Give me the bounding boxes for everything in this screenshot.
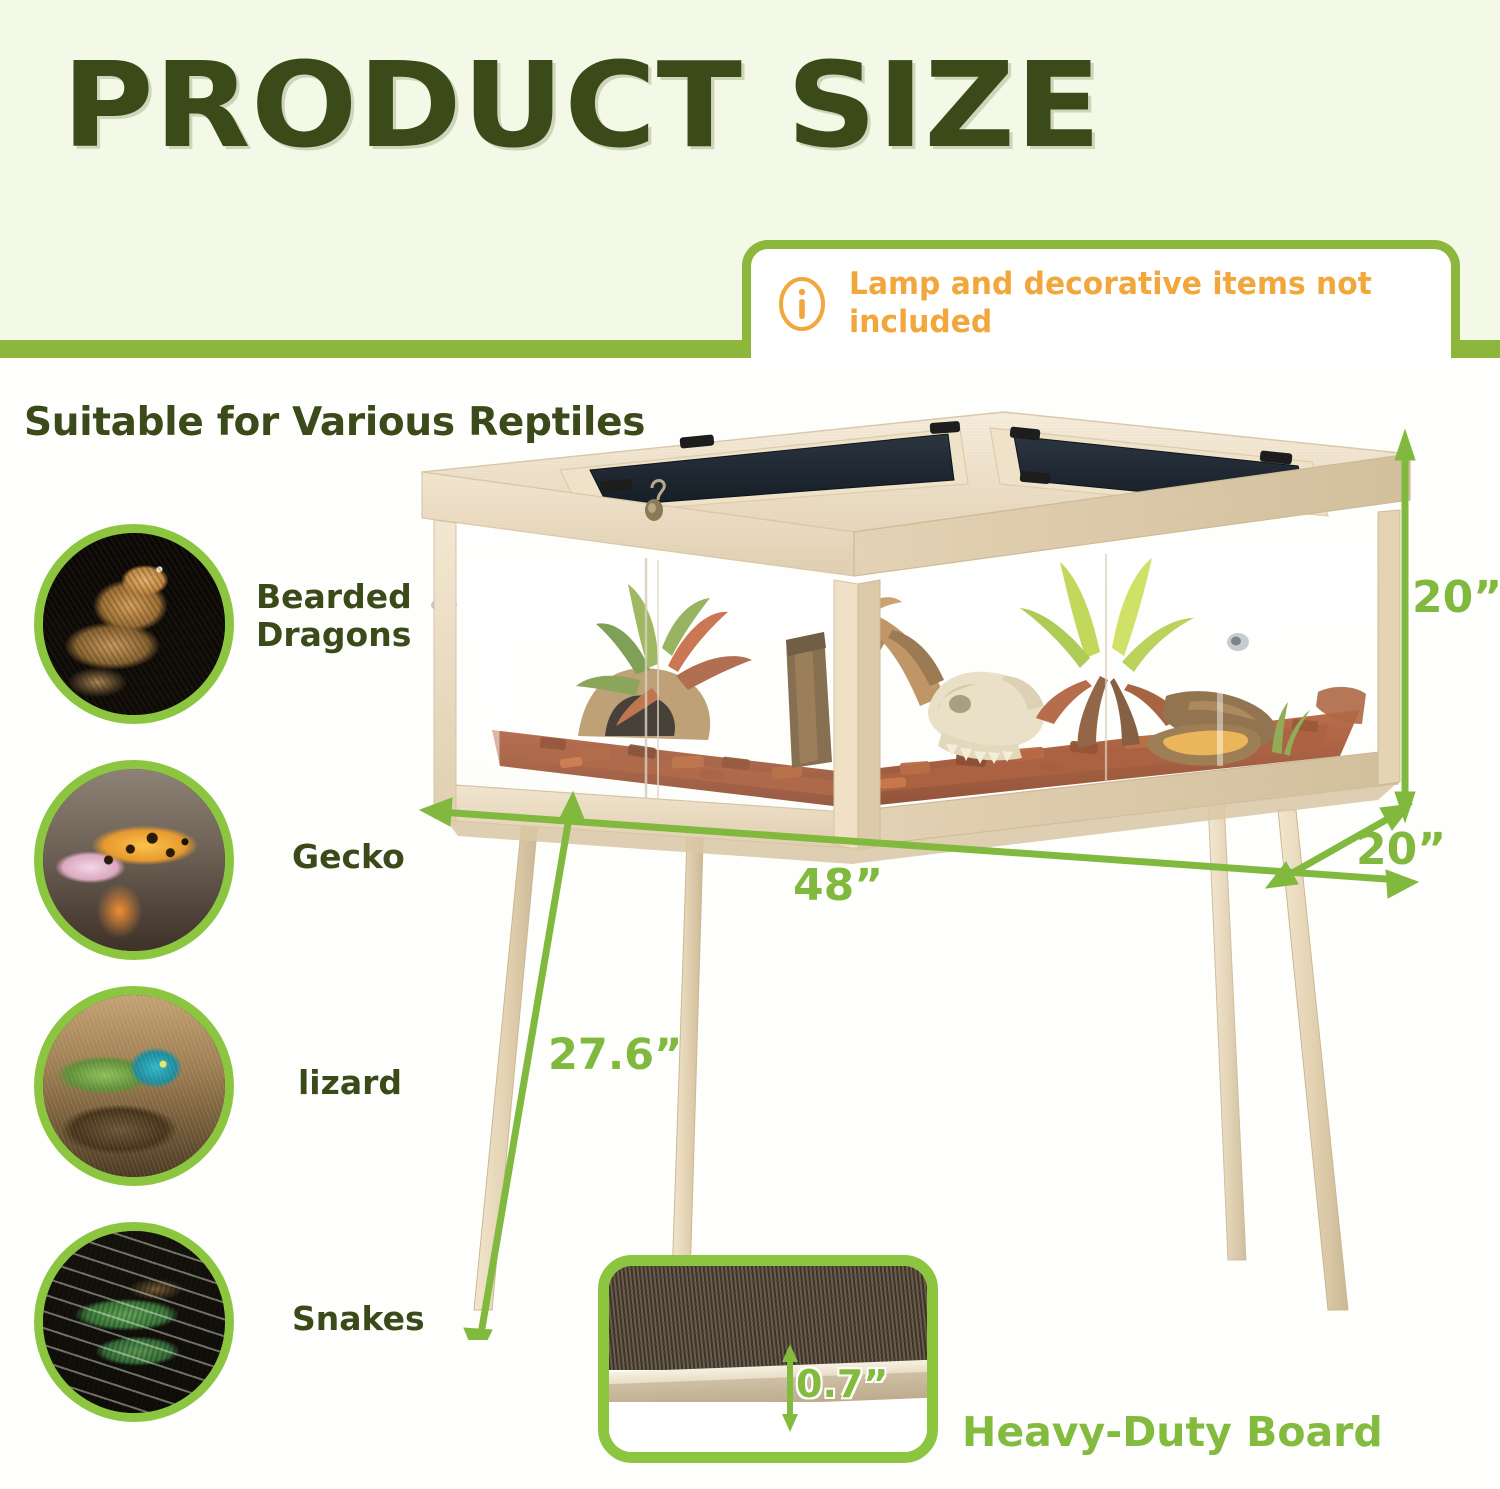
- heavy-duty-board-callout: [598, 1255, 938, 1463]
- info-callout: Lamp and decorative items not included: [742, 240, 1460, 358]
- gecko-photo: [34, 760, 234, 960]
- board-callout-background: [609, 1402, 927, 1452]
- pet-item-gecko: Gecko: [34, 760, 434, 960]
- dimension-label-width: 48”: [793, 860, 883, 911]
- pet-item-snakes: Snakes: [34, 1222, 434, 1422]
- pet-item-bearded-dragons: Bearded Dragons: [34, 524, 434, 724]
- product-size-infographic: PRODUCT SIZE Lamp and decorative items n…: [0, 0, 1500, 1489]
- pet-label-bearded-dragons: Bearded Dragons: [256, 578, 412, 654]
- pet-label-gecko: Gecko: [292, 838, 405, 876]
- door-knob-right: [1227, 633, 1249, 651]
- dimension-label-height: 20”: [1412, 572, 1500, 623]
- lizard-photo: [34, 986, 234, 1186]
- page-title: PRODUCT SIZE: [62, 44, 1101, 168]
- pet-label-lizard: lizard: [298, 1064, 402, 1102]
- info-circle-icon: [777, 275, 827, 333]
- heavy-duty-board-title: Heavy-Duty Board: [962, 1408, 1383, 1456]
- dimension-label-depth: 20”: [1356, 824, 1446, 875]
- pet-item-lizard: lizard: [34, 986, 434, 1186]
- info-callout-text: Lamp and decorative items not included: [849, 266, 1427, 342]
- bearded-dragon-photo: [34, 524, 234, 724]
- board-mesh-surface: [609, 1266, 927, 1370]
- board-thickness-label: 0.7”: [796, 1362, 888, 1406]
- snake-photo: [34, 1222, 234, 1422]
- dimension-label-stand-height: 27.6”: [548, 1030, 682, 1080]
- wooden-reptile-terrarium: [400, 380, 1430, 1340]
